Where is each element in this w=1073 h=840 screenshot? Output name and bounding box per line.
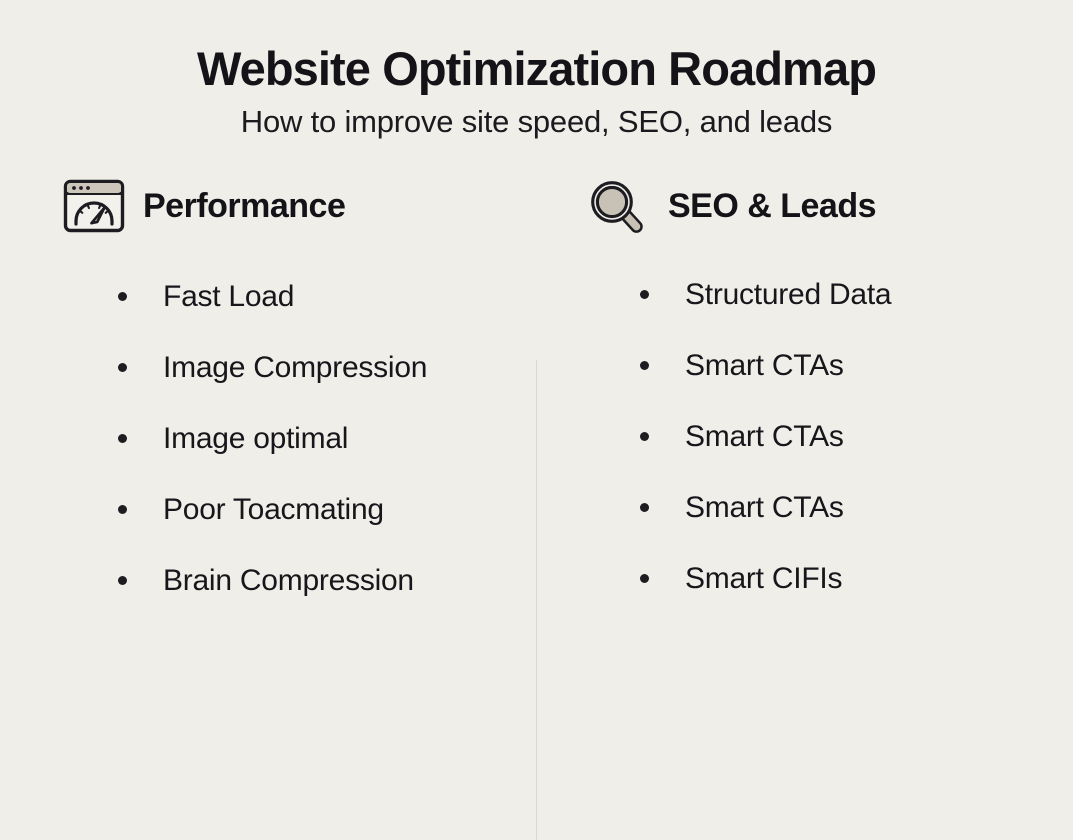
page-subtitle: How to improve site speed, SEO, and lead… (0, 103, 1073, 141)
seo-leads-list: Structured Data Smart CTAs Smart CTAs Sm… (640, 277, 1073, 632)
column-seo-leads-title: SEO & Leads (668, 186, 876, 226)
column-seo-leads: SEO & Leads Structured Data Smart CTAs S… (585, 175, 1035, 237)
list-item: Image Compression (118, 350, 568, 421)
list-item: Smart CIFIs (640, 561, 1073, 632)
list-item: Smart CTAs (640, 490, 1073, 561)
performance-list: Fast Load Image Compression Image optima… (118, 279, 568, 634)
column-divider (536, 360, 537, 840)
column-performance-header: Performance (62, 175, 512, 237)
list-item: Image optimal (118, 421, 568, 492)
column-seo-leads-header: SEO & Leads (585, 175, 1035, 237)
list-item: Smart CTAs (640, 419, 1073, 490)
column-performance-title: Performance (143, 186, 345, 226)
list-item: Brain Compression (118, 563, 568, 634)
column-performance: Performance Fast Load Image Compression … (62, 175, 512, 237)
list-item: Fast Load (118, 279, 568, 350)
roadmap-columns: Performance Fast Load Image Compression … (0, 175, 1073, 675)
page-title: Website Optimization Roadmap (0, 41, 1073, 97)
list-item: Poor Toacmating (118, 492, 568, 563)
list-item: Smart CTAs (640, 348, 1073, 419)
browser-speed-gauge-icon (62, 178, 126, 234)
magnifying-glass-icon (585, 178, 649, 234)
list-item: Structured Data (640, 277, 1073, 348)
